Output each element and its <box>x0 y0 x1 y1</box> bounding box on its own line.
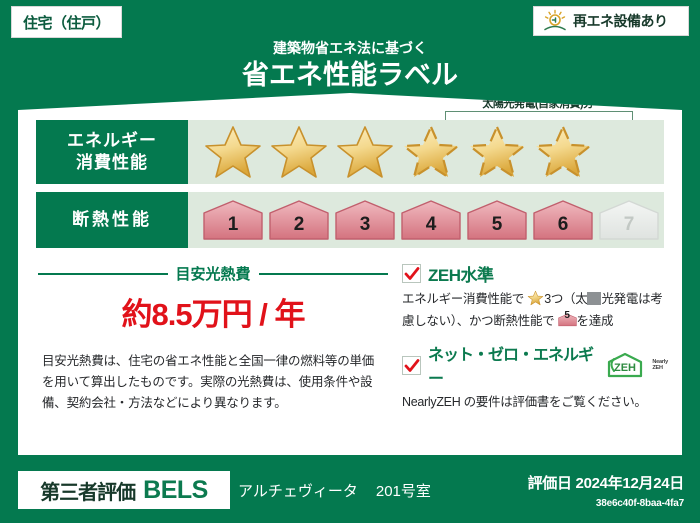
zeh-standard-title: ZEH水準 <box>428 261 494 286</box>
badge-number: 5 <box>466 199 528 241</box>
main-panel: 太陽光発電(自家消費)分 エネルギー 消費性能 <box>18 93 682 455</box>
badge-number: 2 <box>268 199 330 241</box>
solar-sun-icon <box>542 9 568 33</box>
house-badge-icon: 6 <box>532 199 594 241</box>
insulation-performance-row: 断熱性能 1 2 <box>36 192 664 248</box>
label-title: 建築物省エネ法に基づく 省エネ性能ラベル <box>0 38 700 92</box>
star-icon <box>268 123 330 181</box>
redaction-block <box>587 292 601 305</box>
badge-number: 7 <box>598 199 660 241</box>
star-icon-solar <box>532 123 594 181</box>
house-badge-icon: 1 <box>202 199 264 241</box>
building-info: アルチェヴィータ 201号室 <box>238 480 431 501</box>
utility-cost-heading: 目安光熱費 <box>38 263 388 284</box>
house-badge-icon: 3 <box>334 199 396 241</box>
evaluation-id: 38e6c40f-8baa-4fa7 <box>596 498 684 509</box>
title-main: 省エネ性能ラベル <box>0 59 700 92</box>
badge-number: 6 <box>532 199 594 241</box>
zeh-netzero-desc: NearlyZEH の要件は評価書をご覧ください。 <box>402 391 668 413</box>
star-icon <box>202 123 264 181</box>
badge-number: 1 <box>202 199 264 241</box>
zeh-logo-sub: Nearly ZEH <box>652 359 668 372</box>
zeh-standard-line: ZEH水準 <box>402 261 668 286</box>
house-badge-icon: 2 <box>268 199 330 241</box>
building-name: アルチェヴィータ <box>238 480 358 501</box>
zeh-logo-sub-line1: Nearly <box>652 359 668 365</box>
bels-jp-label: 第三者評価 <box>40 476 135 505</box>
solar-portion-bracket <box>445 111 633 120</box>
room-number: 201号室 <box>376 480 431 501</box>
solar-portion-note: 太陽光発電(自家消費)分 <box>422 95 654 111</box>
bels-badge: 第三者評価 BELS <box>18 471 230 509</box>
zeh-netzero-line: ネット・ゼロ・エネルギー ZEH Nearly ZEH <box>402 341 668 389</box>
divider-left <box>38 273 168 275</box>
house-badge-icon: 5 <box>466 199 528 241</box>
evaluation-date: 評価日 2024年12月24日 <box>528 472 684 493</box>
energy-star-rating <box>188 123 594 181</box>
renewable-equipment-tag: 再エネ設備あり <box>533 6 689 36</box>
title-subtitle: 建築物省エネ法に基づく <box>0 38 700 58</box>
check-icon <box>402 264 421 283</box>
renewable-equipment-label: 再エネ設備あり <box>573 11 668 31</box>
divider-right <box>259 273 389 275</box>
star-icon-solar <box>466 123 528 181</box>
zeh-desc-part-b: 3つ（太 <box>544 292 587 306</box>
inline-badge-number: 5 <box>558 312 577 328</box>
label-frame: 住宅（住戸） 再エネ設備あり 建築物省エネ法に基づく 省エネ性能ラベル <box>0 0 700 523</box>
zeh-desc-part-a: エネルギー消費性能で <box>402 292 524 306</box>
badge-number: 3 <box>334 199 396 241</box>
house-type-tag: 住宅（住戸） <box>11 6 122 38</box>
insulation-performance-label: 断熱性能 <box>36 192 188 248</box>
star-icon-inline <box>527 290 544 306</box>
utility-cost-value: 約8.5万円 / 年 <box>38 289 388 334</box>
house-badge-icon-inactive: 7 <box>598 199 660 241</box>
house-badge-icon-inline: 5 <box>558 312 577 328</box>
svg-text:ZEH: ZEH <box>614 362 636 374</box>
star-icon-solar <box>400 123 462 181</box>
bels-en-label: BELS <box>143 476 208 505</box>
badge-number: 4 <box>400 199 462 241</box>
house-badge-icon: 4 <box>400 199 462 241</box>
zeh-section: ZEH水準 エネルギー消費性能で 3つ（太光発電は考慮しない）、かつ断熱性能で … <box>402 261 668 413</box>
zeh-logo-icon: ZEH <box>605 352 645 378</box>
star-icon <box>334 123 396 181</box>
insulation-level-badges: 1 2 3 4 <box>188 199 660 241</box>
zeh-logo-sub-line2: ZEH <box>652 365 662 371</box>
check-icon <box>402 356 421 375</box>
energy-performance-label: エネルギー 消費性能 <box>36 120 188 184</box>
zeh-netzero-title: ネット・ゼロ・エネルギー <box>428 341 598 389</box>
utility-cost-note: 目安光熱費は、住宅の省エネ性能と全国一律の燃料等の単価を用いて算出したものです。… <box>42 351 386 414</box>
utility-cost-title: 目安光熱費 <box>176 263 251 284</box>
zeh-standard-desc: エネルギー消費性能で 3つ（太光発電は考慮しない）、かつ断熱性能で 5 を達成 <box>402 288 668 332</box>
energy-performance-row: エネルギー 消費性能 <box>36 120 664 184</box>
zeh-desc-part-d: を達成 <box>577 314 614 328</box>
